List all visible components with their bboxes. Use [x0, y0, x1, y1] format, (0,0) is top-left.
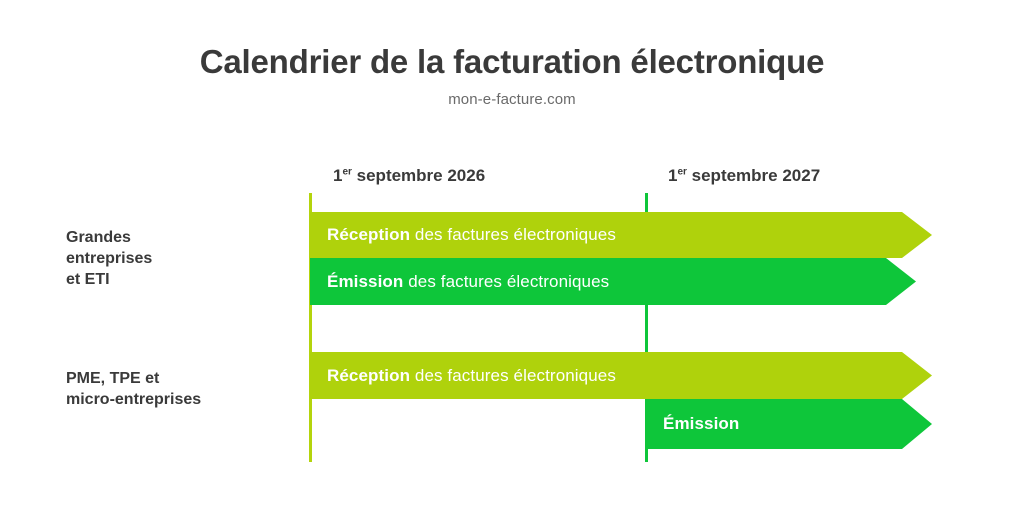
milestone-label-2026-rest: septembre 2026	[352, 166, 485, 185]
bar-label: Émission des factures électroniques	[310, 272, 609, 292]
bar-label-bold: Émission	[327, 272, 403, 291]
bar-label: Émission	[646, 414, 739, 434]
group-label-grandes-entreprises: Grandes entreprises et ETI	[66, 227, 264, 290]
bar-label-rest: des factures électroniques	[403, 272, 609, 291]
bar-reception-grandes-entreprises: Réception des factures électroniques	[310, 212, 932, 258]
bar-label-bold: Réception	[327, 366, 410, 385]
milestone-label-2027-sup: er	[677, 166, 686, 177]
milestone-label-2027: 1er septembre 2027	[668, 166, 820, 186]
timeline-chart: 1er septembre 2026 1er septembre 2027 Gr…	[0, 0, 1024, 512]
milestone-label-2027-rest: septembre 2027	[687, 166, 820, 185]
bar-label-bold: Émission	[663, 414, 739, 433]
bar-label-rest: des factures électroniques	[410, 366, 616, 385]
bar-reception-pme-tpe: Réception des factures électroniques	[310, 352, 932, 399]
bar-label-rest: des factures électroniques	[410, 225, 616, 244]
bar-label-bold: Réception	[327, 225, 410, 244]
milestone-label-2026: 1er septembre 2026	[333, 166, 485, 186]
milestone-label-2026-sup: er	[342, 166, 351, 177]
group-label-pme-tpe: PME, TPE et micro-entreprises	[66, 368, 264, 410]
bar-emission-pme-tpe: Émission	[646, 399, 932, 449]
bar-emission-grandes-entreprises: Émission des factures électroniques	[310, 258, 916, 305]
bar-label: Réception des factures électroniques	[310, 225, 616, 245]
bar-label: Réception des factures électroniques	[310, 366, 616, 386]
